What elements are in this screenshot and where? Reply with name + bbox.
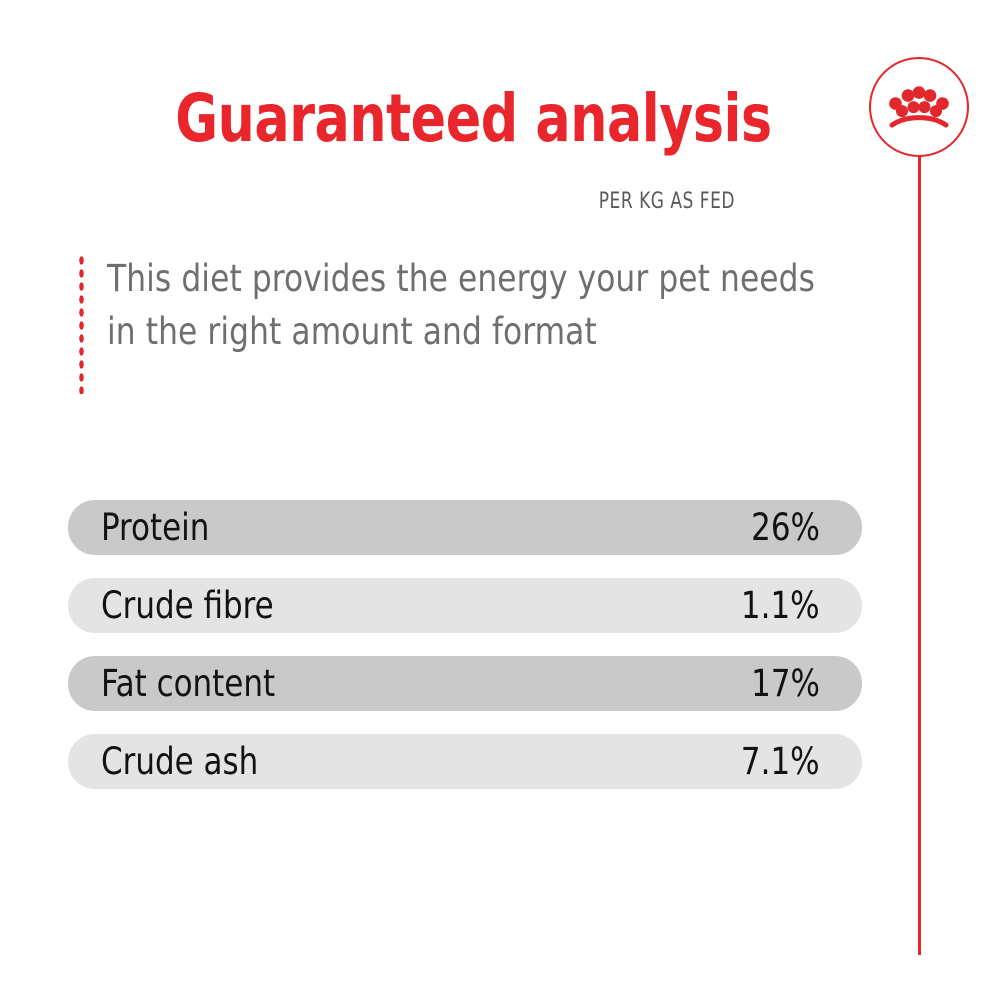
table-row: Protein 26%	[68, 500, 862, 555]
table-row: Crude ash 7.1%	[68, 734, 862, 789]
page-subtitle: PER KG AS FED	[103, 190, 735, 214]
page-title: Guaranteed analysis	[57, 86, 890, 152]
row-value: 1.1%	[741, 586, 820, 626]
royal-canin-crown-icon	[888, 83, 950, 129]
row-label: Crude fibre	[101, 586, 274, 626]
intro-text: This diet provides the energy your pet n…	[107, 252, 832, 358]
row-label: Crude ash	[101, 742, 258, 782]
table-row: Crude fibre 1.1%	[68, 578, 862, 633]
analysis-table: Protein 26% Crude fibre 1.1% Fat content…	[68, 500, 862, 789]
row-value: 17%	[751, 664, 820, 704]
guaranteed-analysis-panel: Guaranteed analysis PER KG AS FED This d…	[0, 0, 1000, 1000]
brand-stem-line	[918, 155, 921, 955]
row-value: 7.1%	[741, 742, 820, 782]
row-value: 26%	[751, 508, 820, 548]
intro-block: This diet provides the energy your pet n…	[78, 252, 878, 394]
table-row: Fat content 17%	[68, 656, 862, 711]
dotted-vertical-rule-icon	[78, 254, 85, 394]
row-label: Fat content	[101, 664, 275, 704]
row-label: Protein	[101, 508, 209, 548]
